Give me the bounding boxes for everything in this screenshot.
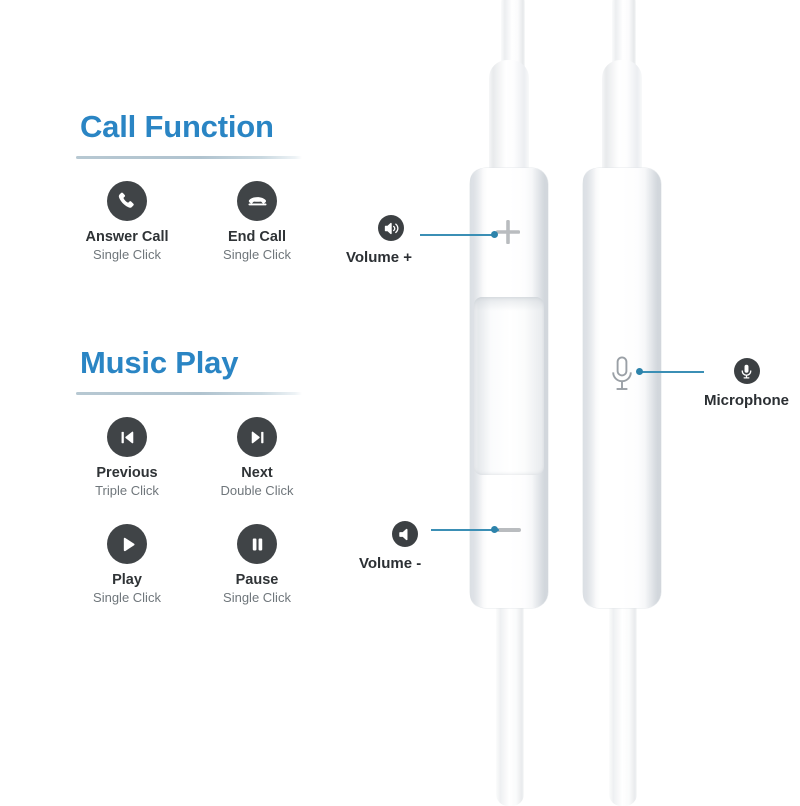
feature-sublabel: Single Click (93, 247, 161, 264)
feature-label: Previous (96, 464, 157, 482)
phone-hangup-icon (237, 181, 277, 221)
callout-volume-minus[interactable]: Volume - (392, 521, 421, 571)
leader-line-volume-plus (420, 234, 496, 236)
feature-sublabel: Single Click (223, 590, 291, 607)
feature-label: Answer Call (86, 228, 169, 246)
leader-line-microphone (642, 371, 704, 373)
remote-right-edge-shading (645, 168, 661, 608)
speaker-wave-icon (378, 215, 404, 241)
pause-icon (237, 524, 277, 564)
feature-grid-call-function: Answer Call Single Click End Call Single… (62, 181, 332, 264)
section-divider-call-function (76, 156, 302, 159)
feature-sublabel: Triple Click (95, 483, 159, 500)
callout-label: Microphone (704, 393, 789, 408)
microphone-icon (734, 358, 760, 384)
feature-answer-call[interactable]: Answer Call Single Click (62, 181, 192, 264)
infographic-canvas: Call Function Answer Call Single Click (0, 0, 800, 800)
speaker-icon (392, 521, 418, 547)
feature-end-call[interactable]: End Call Single Click (192, 181, 322, 264)
remote-left-edge-shading (583, 168, 596, 608)
volume-up-button[interactable] (494, 218, 522, 246)
leader-dot-volume-minus (491, 526, 498, 533)
section-call-function: Call Function Answer Call Single Click (62, 110, 332, 264)
feature-sublabel: Single Click (223, 247, 291, 264)
feature-sublabel: Double Click (221, 483, 294, 500)
feature-pause[interactable]: Pause Single Click (192, 524, 322, 607)
feature-label: End Call (228, 228, 286, 246)
remote-center-button[interactable] (474, 297, 544, 475)
feature-grid-music-play: Previous Triple Click Next Double Click (62, 417, 332, 607)
remote-center-button-highlight (474, 297, 544, 311)
section-title-call-function: Call Function (62, 110, 332, 144)
section-music-play: Music Play Previous Triple Click (62, 346, 332, 607)
feature-label: Pause (236, 571, 279, 589)
callout-volume-plus[interactable]: Volume + (378, 215, 412, 265)
earphone-product-image: Volume + Volume - Microphone (330, 0, 800, 800)
phone-answer-icon (107, 181, 147, 221)
leader-line-volume-minus (431, 529, 499, 531)
leader-dot-microphone (636, 368, 643, 375)
feature-next[interactable]: Next Double Click (192, 417, 322, 500)
callout-microphone[interactable]: Microphone (704, 358, 789, 408)
callout-label: Volume - (359, 556, 421, 571)
skip-previous-icon (107, 417, 147, 457)
feature-sublabel: Single Click (93, 590, 161, 607)
callout-label: Volume + (346, 250, 412, 265)
features-panel: Call Function Answer Call Single Click (62, 110, 332, 607)
feature-label: Next (241, 464, 272, 482)
earphone-cable-lower-right (609, 596, 637, 806)
feature-label: Play (112, 571, 142, 589)
earphone-cable-lower-left (496, 596, 524, 806)
feature-previous[interactable]: Previous Triple Click (62, 417, 192, 500)
microphone-glyph-icon (608, 355, 636, 393)
play-icon (107, 524, 147, 564)
leader-dot-volume-plus (491, 231, 498, 238)
section-title-music-play: Music Play (62, 346, 332, 380)
section-divider-music-play (76, 392, 302, 395)
skip-next-icon (237, 417, 277, 457)
feature-play[interactable]: Play Single Click (62, 524, 192, 607)
